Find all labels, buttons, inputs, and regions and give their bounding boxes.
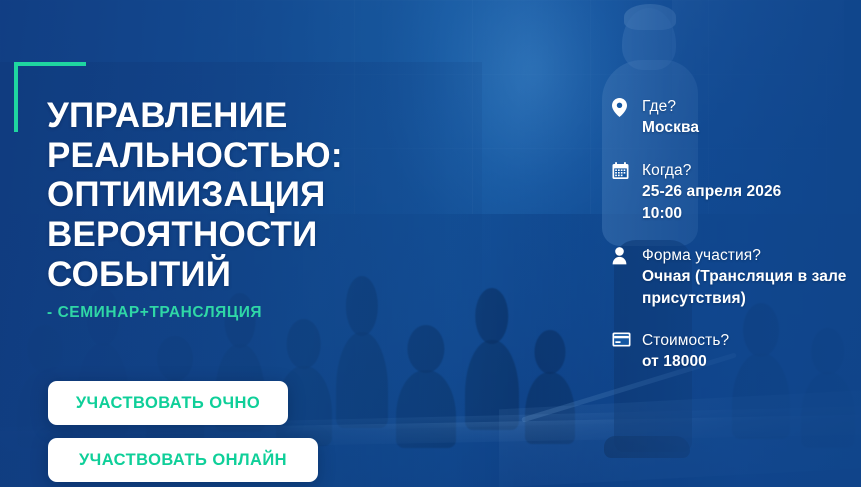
person-icon (612, 245, 642, 309)
title-line-3: ОПТИМИЗАЦИЯ (47, 175, 377, 215)
detail-label-format: Форма участия? (642, 245, 848, 266)
event-details-panel: Где? Москва (612, 96, 848, 373)
detail-row-price: Стоимость? от 18000 (612, 330, 848, 373)
participate-online-button[interactable]: УЧАСТВОВАТЬ ОНЛАЙН (48, 438, 318, 482)
detail-label-date: Когда? (642, 160, 848, 181)
detail-row-format: Форма участия? Очная (Трансляция в зале … (612, 245, 848, 309)
page-title: УПРАВЛЕНИЕ РЕАЛЬНОСТЬЮ: ОПТИМИЗАЦИЯ ВЕРО… (47, 96, 377, 295)
title-line-2: РЕАЛЬНОСТЬЮ: (47, 136, 377, 176)
detail-label-location: Где? (642, 96, 848, 117)
detail-text-location: Где? Москва (642, 96, 848, 139)
detail-text-date: Когда? 25-26 апреля 2026 10:00 (642, 160, 848, 224)
event-hero-banner: УПРАВЛЕНИЕ РЕАЛЬНОСТЬЮ: ОПТИМИЗАЦИЯ ВЕРО… (0, 0, 861, 487)
title-line-4: ВЕРОЯТНОСТИ (47, 215, 377, 255)
detail-text-format: Форма участия? Очная (Трансляция в зале … (642, 245, 848, 309)
detail-text-price: Стоимость? от 18000 (642, 330, 848, 373)
page-subtitle: - СЕМИНАР+ТРАНСЛЯЦИЯ (47, 304, 377, 322)
detail-value-date: 25-26 апреля 2026 (642, 181, 848, 202)
credit-card-icon (612, 330, 642, 373)
detail-row-date: Когда? 25-26 апреля 2026 10:00 (612, 160, 848, 224)
headline-block: УПРАВЛЕНИЕ РЕАЛЬНОСТЬЮ: ОПТИМИЗАЦИЯ ВЕРО… (47, 96, 377, 322)
detail-value-format: Очная (Трансляция в зале присутствия) (642, 266, 848, 309)
detail-value-time: 10:00 (642, 203, 848, 224)
location-pin-icon (612, 96, 642, 139)
cta-button-group: УЧАСТВОВАТЬ ОЧНО УЧАСТВОВАТЬ ОНЛАЙН (48, 381, 318, 482)
detail-row-location: Где? Москва (612, 96, 848, 139)
detail-value-price: от 18000 (642, 351, 848, 372)
title-line-1: УПРАВЛЕНИЕ (47, 96, 377, 136)
title-line-5: СОБЫТИЙ (47, 255, 377, 295)
detail-label-price: Стоимость? (642, 330, 848, 351)
detail-value-location: Москва (642, 117, 848, 138)
participate-offline-button[interactable]: УЧАСТВОВАТЬ ОЧНО (48, 381, 288, 425)
calendar-icon (612, 160, 642, 224)
